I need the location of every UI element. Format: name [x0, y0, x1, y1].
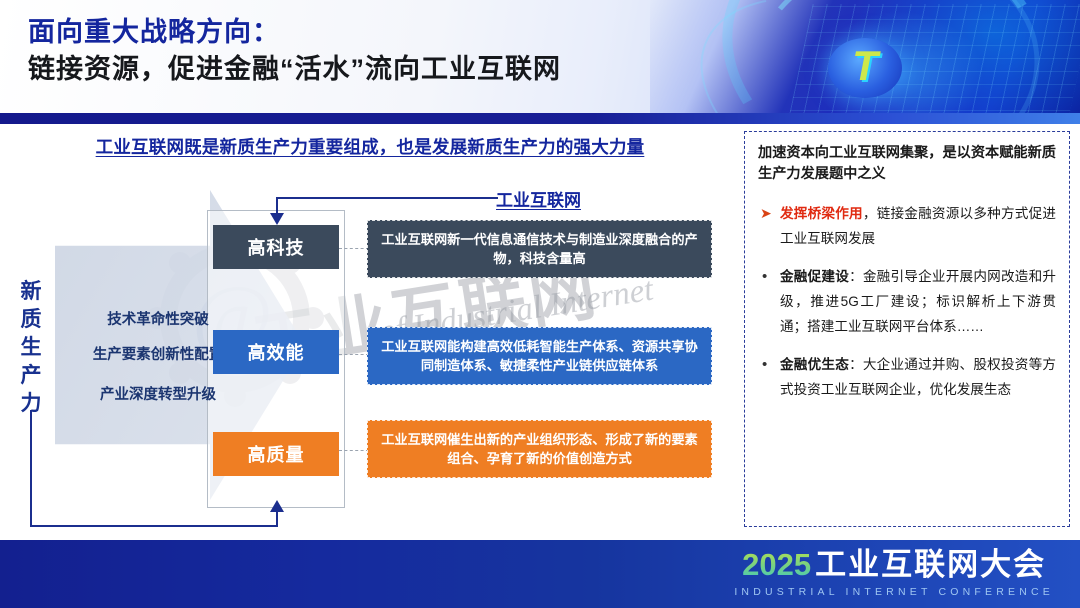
list-item-separator: ：	[849, 357, 863, 372]
capital-panel-list: ➤发挥桥梁作用，链接金融资源以多种方式促进工业互联网发展 •金融促建设：金融引导…	[758, 201, 1056, 402]
conference-year: 2025	[742, 547, 811, 582]
list-item: •金融促建设：金融引导企业开展内网改造和升级，推进5G工厂建设；标识解析上下游贯…	[758, 264, 1056, 339]
connector-line-1	[339, 354, 369, 355]
up-arrow-icon	[270, 500, 284, 512]
list-item-lead: 金融优生态	[780, 357, 849, 372]
list-item-separator: ：	[849, 269, 863, 284]
level-box-high-tech[interactable]: 高科技	[213, 225, 339, 269]
level-box-high-efficiency[interactable]: 高效能	[213, 330, 339, 374]
slide-header: 面向重大战略方向： 链接资源，促进金融“活水”流向工业互联网	[0, 0, 1080, 118]
capital-panel-heading: 加速资本向工业互联网集聚，是以资本赋能新质生产力发展题中之义	[758, 143, 1056, 185]
list-item: ➤发挥桥梁作用，链接金融资源以多种方式促进工业互联网发展	[758, 201, 1056, 251]
connector-line-0	[339, 248, 369, 249]
list-item-separator: ，	[863, 206, 877, 221]
diagram-top-label: 工业互联网	[496, 186, 581, 211]
page-title-line2: 链接资源，促进金融“活水”流向工业互联网	[28, 50, 561, 88]
list-item-lead: 发挥桥梁作用	[780, 206, 863, 221]
conference-name-en: INDUSTRIAL INTERNET CONFERENCE	[734, 587, 1054, 598]
description-box-2: 工业互联网催生出新的产业组织形态、形成了新的要素组合、孕育了新的价值创造方式	[367, 420, 712, 478]
feature-label-0: 技术革命性突破	[58, 308, 258, 329]
diagram-vertical-label: 新质生产力	[14, 278, 48, 418]
page-title-line1: 面向重大战略方向：	[28, 14, 561, 50]
slide-canvas: 面向重大战略方向： 链接资源，促进金融“活水”流向工业互联网 工业互联网既是新质…	[0, 0, 1080, 608]
conference-logo-main: 2025工业互联网大会	[734, 549, 1054, 580]
dot-bullet-icon: •	[762, 352, 767, 377]
feedback-line-vertical	[30, 410, 32, 527]
level-box-high-quality[interactable]: 高质量	[213, 432, 339, 476]
dot-bullet-icon: •	[762, 264, 767, 289]
conference-name-cn: 工业互联网大会	[815, 547, 1046, 582]
connector-line-2	[339, 450, 369, 451]
top-connector-line	[276, 197, 498, 199]
productivity-diagram: 新质生产力 技术革命性突破 生产要素创新性配置 产业深度转型升级 高科技 高效能…	[0, 160, 740, 540]
arrow-bullet-icon: ➤	[760, 201, 772, 226]
description-box-1: 工业互联网能构建高效低耗智能生产体系、资源共享协同制造体系、敏捷柔性产业链供应链…	[367, 327, 712, 385]
down-arrow-icon	[270, 213, 284, 225]
capital-panel: 加速资本向工业互联网集聚，是以资本赋能新质生产力发展题中之义 ➤发挥桥梁作用，链…	[744, 131, 1070, 527]
slide-footer: 2025工业互联网大会 INDUSTRIAL INTERNET CONFEREN…	[0, 540, 1080, 608]
conference-logo: 2025工业互联网大会 INDUSTRIAL INTERNET CONFEREN…	[734, 549, 1054, 598]
page-title: 面向重大战略方向： 链接资源，促进金融“活水”流向工业互联网	[28, 14, 561, 88]
list-item: •金融优生态：大企业通过并购、股权投资等方式投资工业互联网企业，优化发展生态	[758, 352, 1056, 402]
feedback-line-horizontal	[30, 525, 278, 527]
feedback-line-stem	[276, 512, 278, 526]
header-divider	[0, 113, 1080, 124]
feature-label-2: 产业深度转型升级	[58, 383, 258, 404]
description-box-0: 工业互联网新一代信息通信技术与制造业深度融合的产物，科技含量高	[367, 220, 712, 278]
list-item-lead: 金融促建设	[780, 269, 849, 284]
section-subtitle: 工业互联网既是新质生产力重要组成，也是发展新质生产力的强大力量	[0, 134, 740, 159]
t-logo-icon	[828, 38, 902, 98]
tech-globe-graphic	[650, 0, 1080, 118]
